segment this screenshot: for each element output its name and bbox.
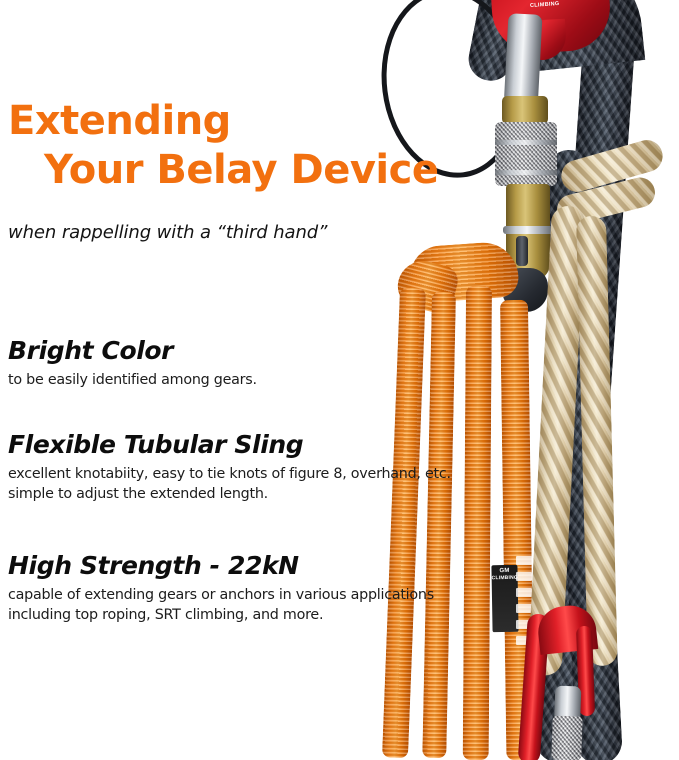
sling-care-label-4 (516, 604, 532, 613)
carabiner-screwlock-sleeve (495, 122, 557, 186)
lower-screwgate-sleeve (551, 715, 583, 760)
carabiner-shaft-collar (503, 226, 553, 234)
sling-care-label-2 (516, 572, 532, 581)
feature-high-strength: High Strength - 22kN capable of extendin… (8, 551, 456, 625)
feature-bright-color: Bright Color to be easily identified amo… (8, 336, 456, 391)
feature-body-line: excellent knotabiity, easy to tie knots … (8, 465, 456, 485)
feature-body-line: simple to adjust the extended length. (8, 485, 456, 505)
product-infographic: CLIMBING GM CLIMBING (0, 0, 679, 760)
feature-body-line: including top roping, SRT climbing, and … (8, 606, 456, 626)
feature-body-line: capable of extending gears or anchors in… (8, 586, 456, 606)
sling-care-label-1 (516, 556, 532, 565)
headline-line-2: Your Belay Device (8, 146, 458, 195)
page-title: Extending Your Belay Device (8, 97, 458, 195)
sling-strand-3 (463, 286, 492, 760)
sling-brand-tag: GM CLIMBING (491, 565, 518, 632)
text-column: Extending Your Belay Device when rappell… (0, 0, 460, 760)
carabiner-upper-brass-nose (502, 96, 548, 124)
feature-title: Flexible Tubular Sling (8, 430, 456, 460)
feature-flexible-tubular-sling: Flexible Tubular Sling excellent knotabi… (8, 430, 456, 504)
feature-body: capable of extending gears or anchors in… (8, 586, 456, 625)
brand-tag-line-2: CLIMBING (492, 575, 518, 582)
carabiner-gate-pin (516, 236, 528, 266)
sling-care-label-3 (516, 588, 532, 597)
carabiner-sleeve-band-bottom (495, 170, 557, 175)
feature-body: excellent knotabiity, easy to tie knots … (8, 465, 456, 504)
headline-line-1: Extending (8, 98, 231, 144)
carabiner-sleeve-band-top (495, 140, 557, 145)
subtitle: when rappelling with a “third hand” (8, 222, 327, 243)
feature-body-line: to be easily identified among gears. (8, 371, 456, 391)
feature-body: to be easily identified among gears. (8, 371, 456, 391)
feature-title: Bright Color (8, 336, 456, 366)
feature-title: High Strength - 22kN (8, 551, 456, 581)
